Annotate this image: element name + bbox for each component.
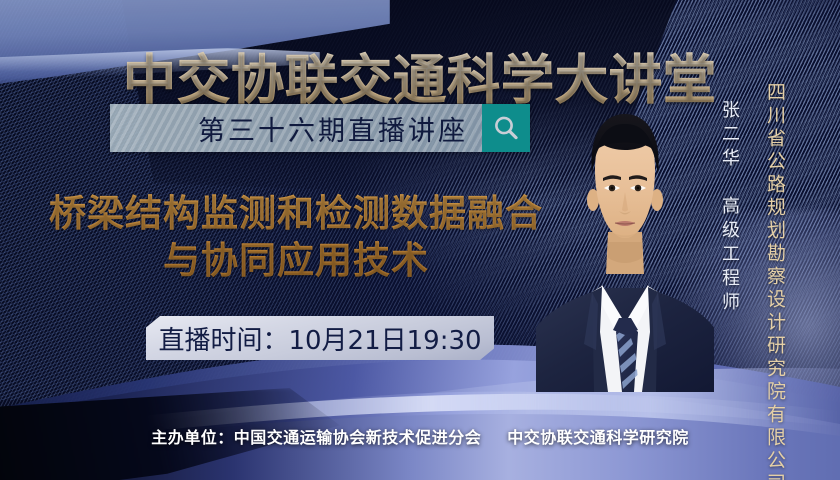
speaker-name-and-title: 张二华 高级工程师 <box>716 100 742 316</box>
episode-subtitle-label: 第三十六期直播讲座 <box>198 109 482 148</box>
footer-organizer-primary: 主办单位：中国交通运输协会新技术促进分会 <box>151 428 481 447</box>
lecture-title: 桥梁结构监测和检测数据融合 与协同应用技术 <box>36 190 556 284</box>
speaker-photo <box>536 92 714 392</box>
episode-subtitle-background: 第三十六期直播讲座 <box>110 104 482 152</box>
live-lecture-poster: 中交协联交通科学大讲堂 第三十六期直播讲座 桥梁结构监测和检测数据融合 与协同应… <box>0 0 840 480</box>
search-icon <box>491 113 521 143</box>
episode-subtitle-bar: 第三十六期直播讲座 <box>110 104 530 152</box>
live-time-banner: 直播时间：10月21日19:30 <box>146 316 494 360</box>
lecture-title-line-1: 桥梁结构监测和检测数据融合 <box>36 190 556 237</box>
live-time-label: 直播时间：10月21日19:30 <box>158 320 481 357</box>
footer-organizer-secondary: 中交协联交通科学研究院 <box>507 428 689 447</box>
footer-organizers: 主办单位：中国交通运输协会新技术促进分会中交协联交通科学研究院 <box>151 428 689 447</box>
lecture-title-line-2: 与协同应用技术 <box>36 237 556 284</box>
footer: 主办单位：中国交通运输协会新技术促进分会中交协联交通科学研究院 <box>0 424 840 448</box>
search-button[interactable] <box>482 104 530 152</box>
page-title: 中交协联交通科学大讲堂 <box>0 50 840 112</box>
speaker-organization: 四川省公路规划勘察设计研究院有限公司 <box>762 82 789 480</box>
